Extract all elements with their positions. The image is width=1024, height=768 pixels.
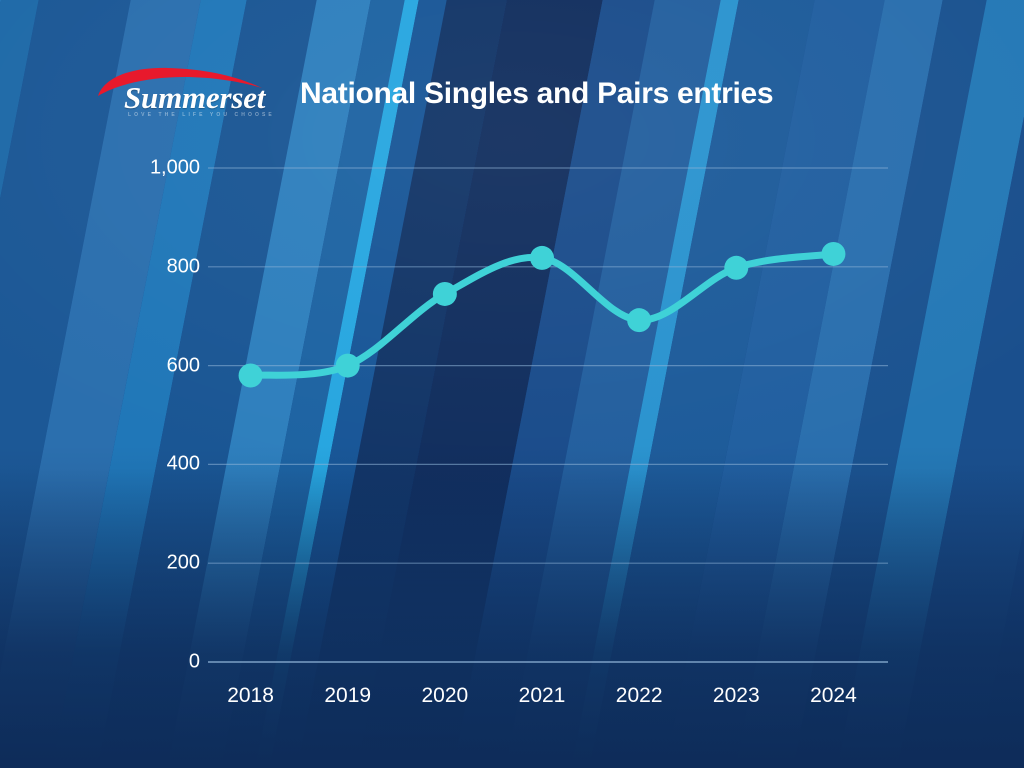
data-point-2020[interactable] — [433, 282, 457, 306]
y-axis-ticks: 02004006008001,000 — [120, 0, 200, 768]
data-point-2022[interactable] — [627, 308, 651, 332]
y-axis-label-1000: 1,000 — [150, 157, 200, 180]
x-axis-label-2023: 2023 — [713, 684, 760, 708]
y-axis-label-800: 800 — [167, 255, 200, 278]
data-point-2018[interactable] — [239, 363, 263, 387]
y-axis-label-600: 600 — [167, 354, 200, 377]
data-point-2021[interactable] — [530, 246, 554, 270]
y-axis-label-200: 200 — [167, 552, 200, 575]
y-axis-label-0: 0 — [189, 651, 200, 674]
x-axis-label-2018: 2018 — [227, 684, 274, 708]
x-axis-label-2022: 2022 — [616, 684, 663, 708]
data-point-2019[interactable] — [336, 354, 360, 378]
x-axis-label-2020: 2020 — [421, 684, 468, 708]
x-axis-label-2024: 2024 — [810, 684, 857, 708]
gridlines — [208, 168, 888, 662]
line-chart: 02004006008001,000 201820192020202120222… — [0, 0, 1024, 768]
y-axis-label-400: 400 — [167, 453, 200, 476]
x-axis-label-2019: 2019 — [324, 684, 371, 708]
data-point-2023[interactable] — [724, 256, 748, 280]
data-point-2024[interactable] — [821, 242, 845, 266]
x-axis-label-2021: 2021 — [519, 684, 566, 708]
slide-canvas: Summerset LOVE THE LIFE YOU CHOOSE Natio… — [0, 0, 1024, 768]
